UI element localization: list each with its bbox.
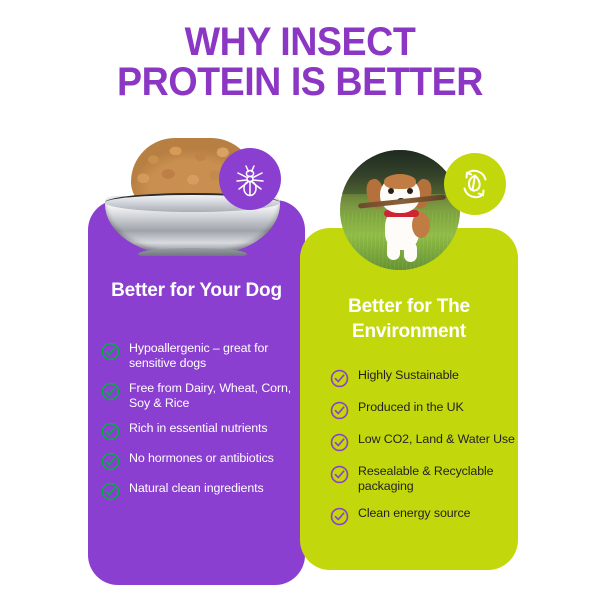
title-line-1: WHY INSECT <box>185 20 416 64</box>
title-line-2: PROTEIN IS BETTER <box>18 62 582 102</box>
list-item-label: Resealable & Recyclable packaging <box>358 464 518 494</box>
dog-eye-right <box>407 188 413 194</box>
insect-badge <box>219 148 281 210</box>
list-item: Natural clean ingredients <box>101 481 297 501</box>
list-item: Free from Dairy, Wheat, Corn, Soy & Rice <box>101 381 297 411</box>
list-item: No hormones or antibiotics <box>101 451 297 471</box>
check-circle-icon <box>101 452 120 471</box>
list-item-label: Hypoallergenic – great for sensitive dog… <box>129 341 297 371</box>
check-circle-icon <box>330 465 349 484</box>
card-heading-dog: Better for Your Dog <box>96 278 297 303</box>
recycle-leaf-icon <box>456 165 494 203</box>
eco-badge <box>444 153 506 215</box>
list-item: Resealable & Recyclable packaging <box>330 464 518 494</box>
beagle-dog-photo <box>340 150 460 270</box>
check-circle-icon <box>101 482 120 501</box>
list-item-label: Low CO2, Land & Water Use <box>358 432 515 447</box>
dog-leg-right <box>404 242 417 262</box>
check-circle-icon <box>101 342 120 361</box>
list-item-label: Highly Sustainable <box>358 368 459 383</box>
check-circle-icon <box>101 422 120 441</box>
dog-eye-left <box>388 188 394 194</box>
infographic-canvas: WHY INSECT PROTEIN IS BETTER <box>0 0 600 600</box>
list-item-label: Rich in essential nutrients <box>129 421 268 436</box>
list-item: Highly Sustainable <box>330 368 518 388</box>
list-item: Low CO2, Land & Water Use <box>330 432 518 452</box>
bullet-list-environment: Highly Sustainable Produced in the UK Lo… <box>330 368 518 538</box>
list-item: Clean energy source <box>330 506 518 526</box>
insect-icon <box>233 160 267 198</box>
list-item-label: Clean energy source <box>358 506 470 521</box>
page-title: WHY INSECT PROTEIN IS BETTER <box>18 22 582 102</box>
check-circle-icon <box>330 401 349 420</box>
dog-head-patch <box>384 174 416 189</box>
bullet-list-dog: Hypoallergenic – great for sensitive dog… <box>101 341 297 511</box>
list-item: Hypoallergenic – great for sensitive dog… <box>101 341 297 371</box>
check-circle-icon <box>330 433 349 452</box>
card-heading-environment: Better for The Environment <box>308 294 510 344</box>
check-circle-icon <box>330 507 349 526</box>
dog-leg-left <box>387 238 400 260</box>
list-item: Produced in the UK <box>330 400 518 420</box>
check-circle-icon <box>101 382 120 401</box>
list-item-label: No hormones or antibiotics <box>129 451 274 466</box>
bowl-base <box>138 248 247 256</box>
list-item: Rich in essential nutrients <box>101 421 297 441</box>
list-item-label: Natural clean ingredients <box>129 481 264 496</box>
list-item-label: Free from Dairy, Wheat, Corn, Soy & Rice <box>129 381 297 411</box>
check-circle-icon <box>330 369 349 388</box>
list-item-label: Produced in the UK <box>358 400 464 415</box>
